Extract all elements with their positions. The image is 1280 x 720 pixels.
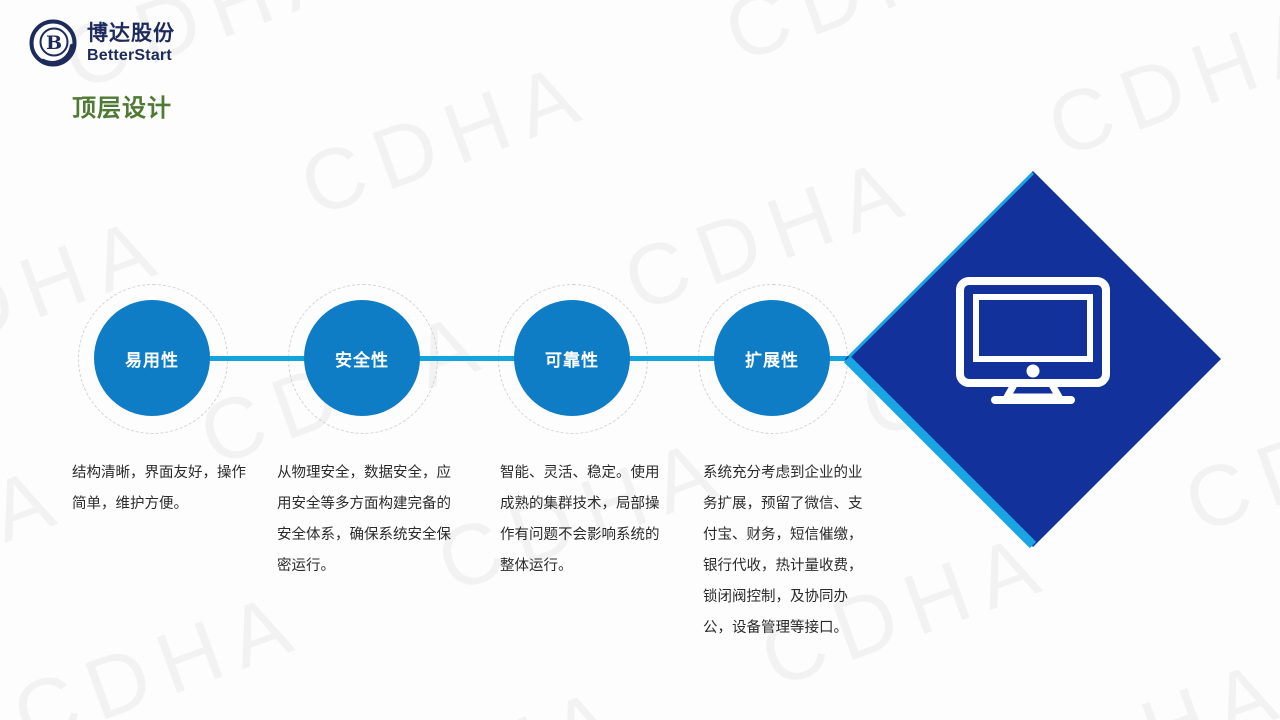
node-circle-security[interactable]: 安全性: [304, 300, 420, 416]
page-title: 顶层设计: [72, 88, 172, 123]
diamond-panel: [842, 168, 1224, 550]
node-circle-reliability[interactable]: 可靠性: [514, 300, 630, 416]
caption-security: 从物理安全，数据安全，应用安全等多方面构建完备的安全体系，确保系统安全保密运行。: [277, 458, 459, 582]
caption-easy-of-use: 结构清晰，界面友好，操作简单，维护方便。: [72, 458, 252, 520]
node-label: 扩展性: [745, 346, 799, 371]
betterstart-circle-b-logo-icon: B: [28, 18, 78, 68]
desktop-monitor-icon: [955, 276, 1111, 406]
node-circle-easy-of-use[interactable]: 易用性: [94, 300, 210, 416]
svg-text:B: B: [46, 32, 62, 54]
caption-reliability: 智能、灵活、稳定。使用成熟的集群技术，局部操作有问题不会影响系统的整体运行。: [500, 458, 663, 582]
connector-3: [625, 356, 725, 361]
node-label: 安全性: [335, 346, 389, 371]
logo-chinese-name: 博达股份: [87, 23, 175, 44]
connector-1: [205, 356, 315, 361]
node-label: 可靠性: [545, 346, 599, 371]
company-logo: B 博达股份 BetterStart: [28, 18, 175, 68]
logo-text: 博达股份 BetterStart: [87, 23, 175, 64]
connector-2: [415, 356, 525, 361]
logo-english-name: BetterStart: [87, 48, 175, 64]
node-circle-scalability[interactable]: 扩展性: [714, 300, 830, 416]
slide-canvas: CDHA CDHA CDHA CDHA CDHA CDHA CDHA CDHA …: [0, 0, 1280, 720]
node-label: 易用性: [125, 346, 179, 371]
